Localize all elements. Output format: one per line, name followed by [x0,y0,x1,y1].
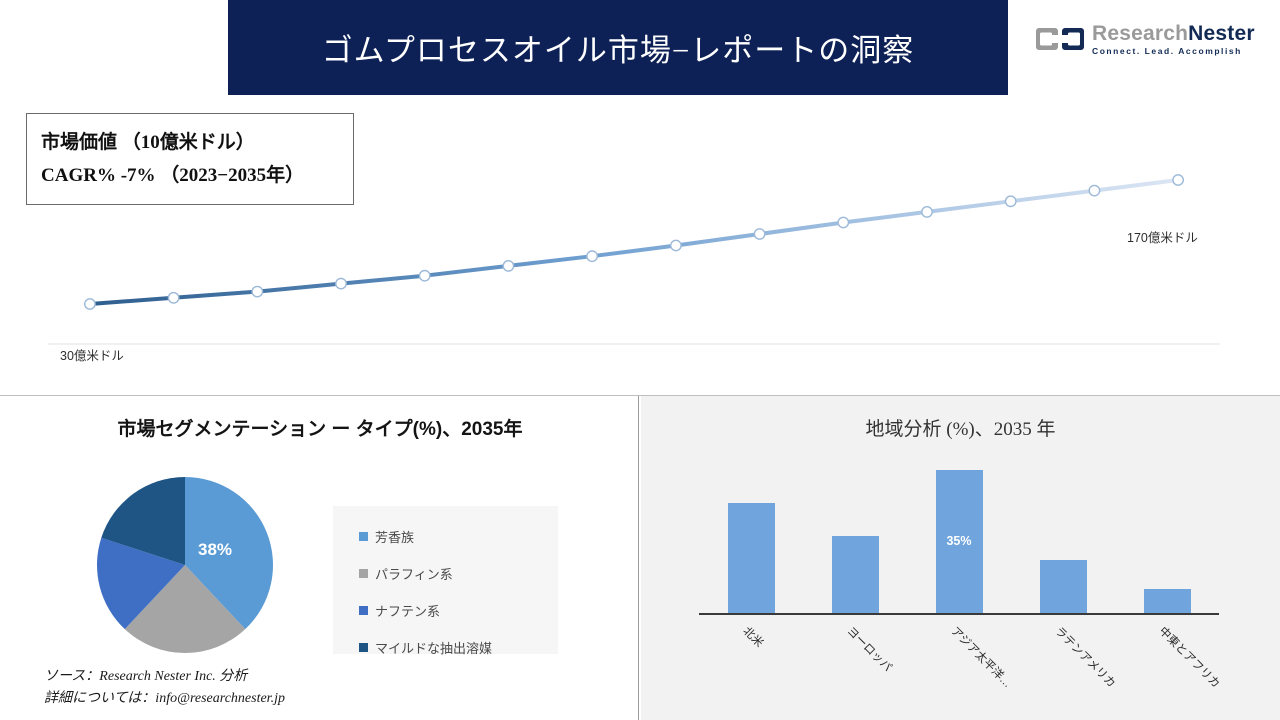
bar[interactable] [1040,560,1087,613]
line-start-label: 30億米ドル [60,345,124,364]
legend-swatch-icon [359,643,368,652]
line-marker [1006,196,1016,206]
infographic-page: ゴムプロセスオイル市場−レポートの洞察 ResearchNester Conne… [0,0,1280,720]
market-value-line-chart: 30億米ドル 170億米ドル 2022年2023年2024年2025年2026年… [0,95,1280,395]
bar[interactable] [1144,589,1191,614]
bar[interactable] [832,536,879,614]
page-title: ゴムプロセスオイル市場−レポートの洞察 [322,25,915,70]
bar-chart-axis [699,613,1219,615]
legend-swatch-icon [359,569,368,578]
bar-slot [803,458,907,613]
pie-chart-title: 市場セグメンテーション ー タイプ(%)、2035年 [60,416,580,444]
line-marker [922,207,932,217]
line-marker [252,286,262,296]
legend-label: 芳香族 [375,527,414,546]
pie-data-label: 38% [198,540,232,560]
bar-slot [699,458,803,613]
interlocking-links-icon [1036,22,1084,56]
bar-label-slot: 中東とアフリカ [1115,617,1219,707]
legend-item[interactable]: マイルドな抽出溶媒 [359,629,558,666]
bar[interactable]: 35% [936,470,983,613]
line-marker [754,229,764,239]
legend-label: マイルドな抽出溶媒 [375,638,492,657]
legend-label: パラフィン系 [375,564,453,583]
vertical-divider [638,396,639,720]
legend-swatch-icon [359,606,368,615]
legend-item[interactable]: パラフィン系 [359,555,558,592]
bar-label-slot: アジア太平洋… [907,617,1011,707]
line-marker [85,299,95,309]
brand-logo: ResearchNester Connect. Lead. Accomplish [1036,22,1255,56]
line-marker [671,240,681,250]
pie-chart-svg [95,475,275,655]
bar-x-label: 北米 [740,623,768,651]
bar-chart-bars: 35% [699,458,1219,613]
line-markers [85,175,1184,309]
line-end-label: 170億米ドル [1127,227,1198,246]
bar-x-label: 中東とアフリカ [1156,623,1224,691]
bar-chart-x-labels: 北米ヨーロッパアジア太平洋…ラテンアメリカ中東とアフリカ [699,617,1219,707]
bar-label-slot: 北米 [699,617,803,707]
line-marker [503,261,513,271]
bar-slot: 35% [907,458,1011,613]
header-banner: ゴムプロセスオイル市場−レポートの洞察 [228,0,1008,95]
line-marker [587,251,597,261]
bar-slot [1011,458,1115,613]
bar[interactable] [728,503,775,613]
source-note: ソース：Research Nester Inc. 分析 詳細については：info… [44,666,285,709]
bar-x-label: アジア太平洋… [948,623,1016,691]
bar-label-slot: ラテンアメリカ [1011,617,1115,707]
bar-data-label: 35% [936,534,983,548]
logo-text: ResearchNester Connect. Lead. Accomplish [1092,23,1255,56]
pie-legend: 芳香族パラフィン系ナフテン系マイルドな抽出溶媒 [333,506,558,654]
line-marker [1089,185,1099,195]
regional-analysis-panel: 地域分析 (%)、2035 年 35% 北米ヨーロッパアジア太平洋…ラテンアメリ… [641,396,1280,720]
legend-swatch-icon [359,532,368,541]
source-line-1: ソース：Research Nester Inc. 分析 [44,666,285,688]
logo-wordmark: ResearchNester [1092,23,1255,44]
bar-label-slot: ヨーロッパ [803,617,907,707]
logo-word-research: Research [1092,22,1188,45]
legend-item[interactable]: 芳香族 [359,518,558,555]
logo-tagline: Connect. Lead. Accomplish [1092,47,1255,56]
bar-slot [1115,458,1219,613]
line-marker [336,278,346,288]
line-marker [838,217,848,227]
bar-chart-title: 地域分析 (%)、2035 年 [641,414,1280,441]
line-marker [420,271,430,281]
legend-label: ナフテン系 [375,601,440,620]
legend-item[interactable]: ナフテン系 [359,592,558,629]
line-marker [1173,175,1183,185]
line-marker [168,293,178,303]
logo-word-nester: Nester [1188,22,1255,45]
source-line-2: 詳細については：info@researchnester.jp [44,688,285,710]
bar-x-label: ラテンアメリカ [1052,623,1120,691]
line-chart-svg [0,95,1280,395]
bar-x-label: ヨーロッパ [844,623,896,675]
